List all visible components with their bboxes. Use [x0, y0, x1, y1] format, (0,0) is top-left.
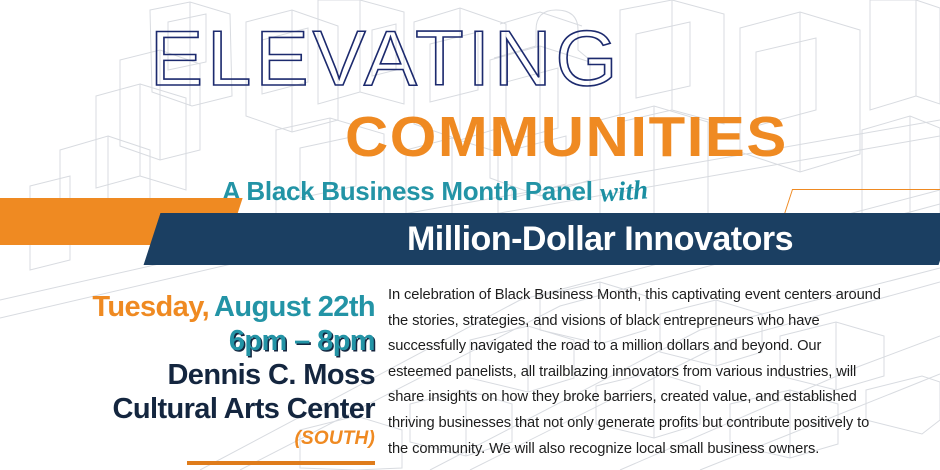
banner-title-text: Million-Dollar Innovators — [270, 215, 930, 263]
event-flyer: ELEVATING COMMUNITIES A Black Business M… — [0, 0, 940, 470]
event-details-column: Tuesday,August 22th 6pm – 8pm Dennis C. … — [20, 290, 375, 465]
event-time: 6pm – 8pm — [20, 324, 375, 358]
event-date-day: Tuesday, — [92, 291, 209, 323]
headline-elevating: ELEVATING — [150, 18, 621, 98]
headline-block: ELEVATING COMMUNITIES A Black Business M… — [0, 0, 940, 210]
banner-area: Million-Dollar Innovators — [0, 190, 940, 285]
event-date-line: Tuesday,August 22th — [20, 290, 375, 324]
orange-divider-rule — [187, 461, 375, 465]
event-description-paragraph: In celebration of Black Business Month, … — [388, 283, 888, 462]
headline-communities: COMMUNITIES — [345, 108, 788, 166]
event-venue-note: (SOUTH) — [20, 426, 375, 452]
event-venue-line-2: Cultural Arts Center — [20, 392, 375, 426]
event-venue-line-1: Dennis C. Moss — [20, 358, 375, 392]
event-date-rest: August 22th — [214, 291, 375, 323]
